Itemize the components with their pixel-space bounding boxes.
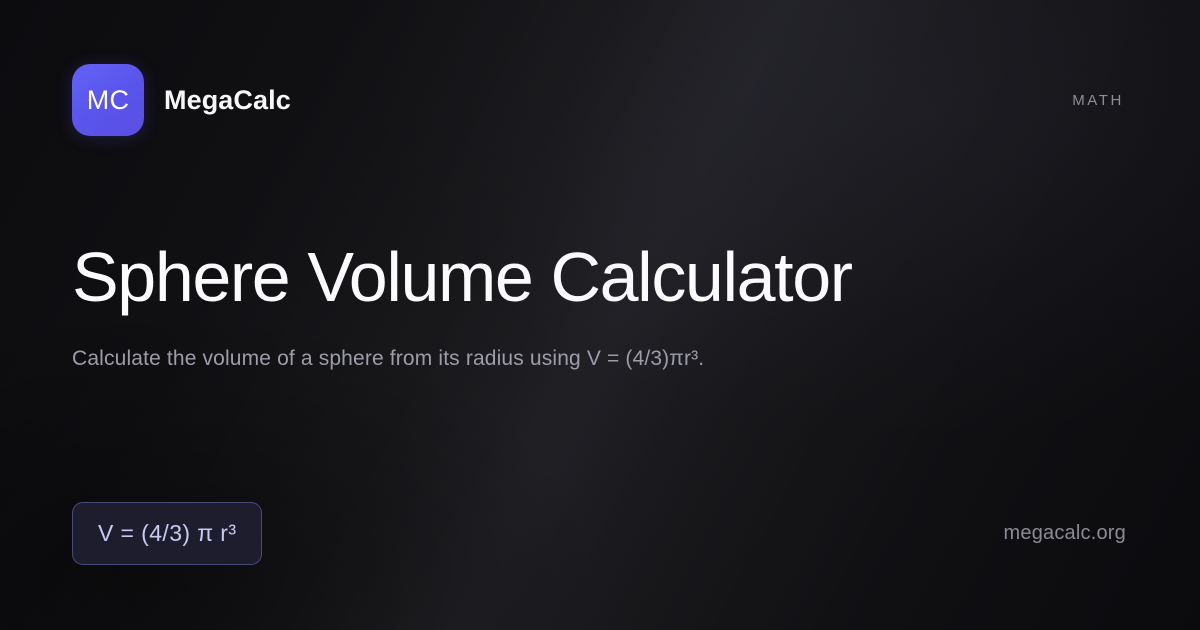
page-subtitle: Calculate the volume of a sphere from it…: [72, 344, 1128, 374]
megacalc-logo-icon: MC: [72, 64, 144, 136]
logo-initials-label: MC: [87, 87, 129, 114]
header-bar: MC MegaCalc MATH: [72, 64, 1124, 136]
site-url-label: megacalc.org: [1004, 522, 1126, 545]
og-card-canvas: MC MegaCalc MATH Sphere Volume Calculato…: [0, 0, 1200, 630]
brand-name-label: MegaCalc: [164, 85, 291, 116]
page-title: Sphere Volume Calculator: [72, 240, 1128, 314]
footer-row: V = (4/3) π r³ megacalc.org: [72, 501, 1126, 565]
brand-lockup[interactable]: MC MegaCalc: [72, 64, 291, 136]
formula-badge: V = (4/3) π r³: [72, 502, 262, 565]
hero-content: Sphere Volume Calculator Calculate the v…: [72, 240, 1128, 375]
category-badge: MATH: [1072, 92, 1124, 109]
